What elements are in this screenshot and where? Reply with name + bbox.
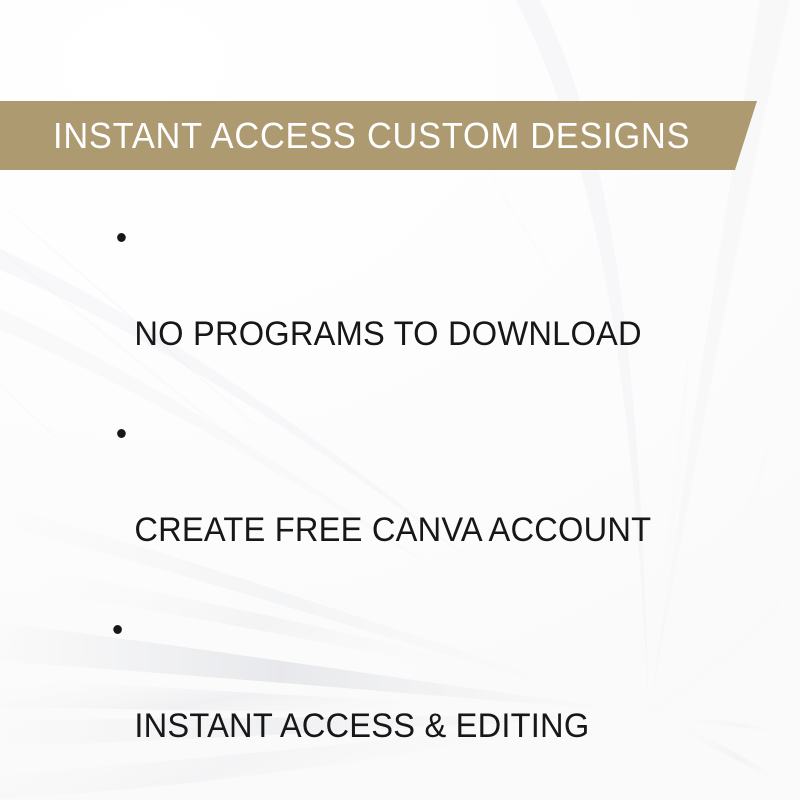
list-item: INSTANT ACCESS & EDITING	[0, 604, 768, 800]
banner-title: INSTANT ACCESS CUSTOM DESIGNS	[53, 101, 690, 170]
list-item-label: NO PROGRAMS TO DOWNLOAD	[134, 310, 768, 359]
bullet-icon	[117, 233, 126, 242]
list-item: NO PROGRAMS TO DOWNLOAD	[0, 212, 768, 408]
list-item-label: INSTANT ACCESS & EDITING	[134, 702, 768, 751]
bullet-icon	[117, 429, 126, 438]
bullet-icon	[113, 625, 122, 634]
list-item: CREATE FREE CANVA ACCOUNT	[0, 408, 768, 604]
benefits-list: NO PROGRAMS TO DOWNLOAD CREATE FREE CANV…	[0, 212, 800, 800]
header-banner: INSTANT ACCESS CUSTOM DESIGNS	[0, 101, 760, 170]
list-item-label: CREATE FREE CANVA ACCOUNT	[134, 506, 768, 555]
poster-canvas: INSTANT ACCESS CUSTOM DESIGNS NO PROGRAM…	[0, 0, 800, 800]
